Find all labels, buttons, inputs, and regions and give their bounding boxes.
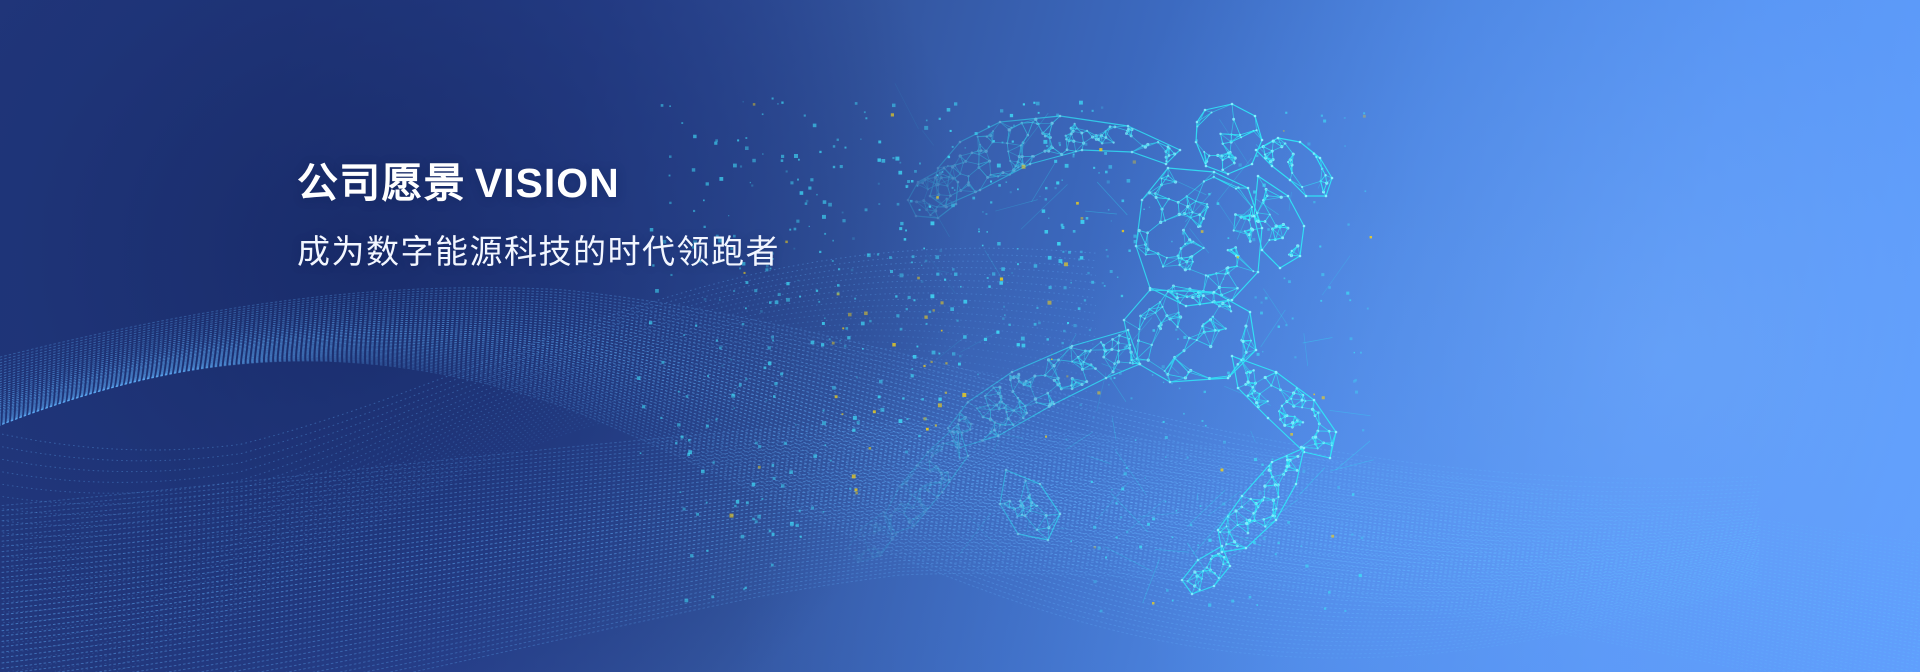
background-gradient xyxy=(0,0,1920,672)
vision-hero-banner: 公司愿景VISION 成为数字能源科技的时代领跑者 xyxy=(0,0,1920,672)
